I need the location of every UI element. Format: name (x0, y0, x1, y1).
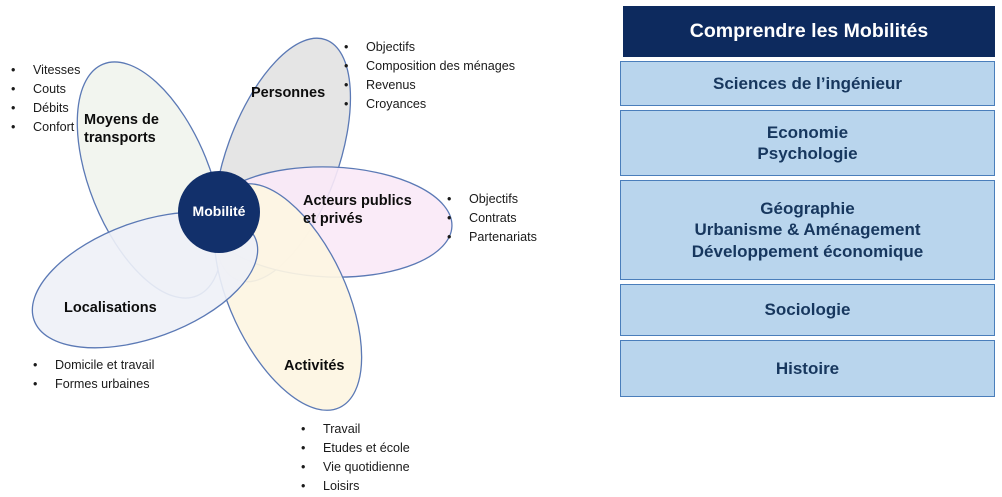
discipline-box-sciences-ingenieur[interactable]: Sciences de l’ingénieur (620, 61, 995, 106)
bullet-item-label: Objectifs (366, 38, 415, 57)
bullet-item-label: Débits (33, 99, 69, 118)
panel-title-box: Comprendre les Mobilités (623, 6, 995, 57)
bullet-item: •Vitesses (11, 61, 80, 80)
bullet-item-label: Composition des ménages (366, 57, 515, 76)
bullet-item: •Objectifs (344, 38, 515, 57)
bullet-list-acteurs-attributes: •Objectifs•Contrats•Partenariats (447, 190, 537, 247)
bullet-item: •Revenus (344, 76, 515, 95)
petal-label-activites: Activités (284, 357, 394, 375)
bullet-dot-icon: • (301, 458, 323, 477)
bullet-dot-icon: • (447, 209, 469, 228)
bullet-item: •Domicile et travail (33, 356, 154, 375)
bullet-item: •Couts (11, 80, 80, 99)
bullet-list-activites-attributes: •Travail•Etudes et école•Vie quotidienne… (301, 420, 410, 497)
bullet-item-label: Revenus (366, 76, 416, 95)
bullet-list-moyens-attributes: •Vitesses•Couts•Débits•Confort (11, 61, 80, 138)
discipline-box-histoire[interactable]: Histoire (620, 340, 995, 397)
bullet-item: •Loisirs (301, 477, 410, 496)
bullet-item: •Formes urbaines (33, 375, 154, 394)
petal-label-acteurs: Acteurs publics et privés (303, 192, 443, 228)
bullet-list-localisations-attributes: •Domicile et travail•Formes urbaines (33, 356, 154, 394)
slide-canvas: Moyens de transports Personnes Acteurs p… (0, 0, 1002, 489)
bullet-item-label: Croyances (366, 95, 426, 114)
bullet-item-label: Domicile et travail (55, 356, 154, 375)
bullet-item-label: Couts (33, 80, 66, 99)
discipline-box-geographie-urbanisme[interactable]: Géographie Urbanisme & Aménagement Dével… (620, 180, 995, 280)
bullet-item-label: Travail (323, 420, 360, 439)
bullet-item-label: Vie quotidienne (323, 458, 410, 477)
bullet-dot-icon: • (344, 38, 366, 57)
bullet-dot-icon: • (33, 375, 55, 394)
bullet-item-label: Formes urbaines (55, 375, 150, 394)
bullet-dot-icon: • (11, 99, 33, 118)
bullet-item: •Débits (11, 99, 80, 118)
bullet-dot-icon: • (344, 95, 366, 114)
bullet-item: •Vie quotidienne (301, 458, 410, 477)
bullet-item-label: Etudes et école (323, 439, 410, 458)
bullet-dot-icon: • (11, 61, 33, 80)
bullet-item-label: Objectifs (469, 190, 518, 209)
bullet-dot-icon: • (301, 477, 323, 496)
bullet-item-label: Confort (33, 118, 74, 137)
mobility-core-label: Mobilité (179, 203, 259, 219)
bullet-dot-icon: • (11, 118, 33, 137)
bullet-item: •Croyances (344, 95, 515, 114)
bullet-list-personnes-attributes: •Objectifs•Composition des ménages•Reven… (344, 38, 515, 115)
bullet-item-label: Contrats (469, 209, 517, 228)
bullet-dot-icon: • (11, 80, 33, 99)
bullet-dot-icon: • (447, 190, 469, 209)
bullet-item: •Partenariats (447, 228, 537, 247)
petal-label-localisations: Localisations (64, 299, 194, 317)
bullet-dot-icon: • (33, 356, 55, 375)
bullet-dot-icon: • (344, 57, 366, 76)
bullet-item: •Contrats (447, 209, 537, 228)
discipline-box-economie-psychologie[interactable]: Economie Psychologie (620, 110, 995, 176)
bullet-item-label: Vitesses (33, 61, 80, 80)
bullet-item: •Composition des ménages (344, 57, 515, 76)
bullet-dot-icon: • (301, 439, 323, 458)
bullet-item-label: Loisirs (323, 477, 359, 496)
bullet-dot-icon: • (344, 76, 366, 95)
petal-label-moyens: Moyens de transports (84, 111, 204, 147)
bullet-item: •Travail (301, 420, 410, 439)
bullet-item-label: Partenariats (469, 228, 537, 247)
bullet-item: •Confort (11, 118, 80, 137)
bullet-item: •Objectifs (447, 190, 537, 209)
discipline-stack: Comprendre les Mobilités Sciences de l’i… (620, 0, 1002, 489)
discipline-box-sociologie[interactable]: Sociologie (620, 284, 995, 336)
bullet-dot-icon: • (447, 228, 469, 247)
bullet-dot-icon: • (301, 420, 323, 439)
bullet-item: •Etudes et école (301, 439, 410, 458)
